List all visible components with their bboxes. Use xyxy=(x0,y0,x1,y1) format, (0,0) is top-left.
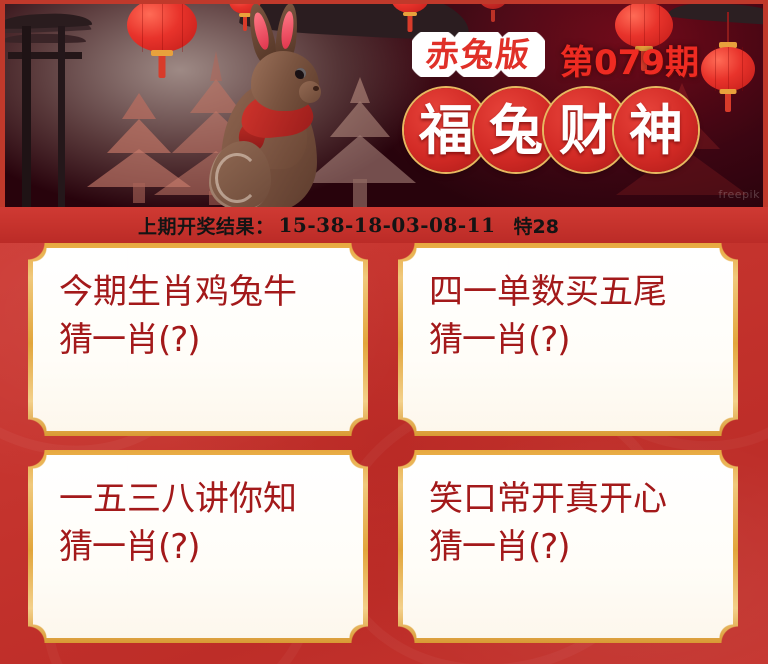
result-label: 上期开奖结果： xyxy=(138,212,275,239)
riddle-card[interactable]: 四一单数买五尾 猜一肖(?) xyxy=(398,243,738,436)
result-numbers: 15-38-18-03-08-11 xyxy=(279,213,496,237)
title-char: 兔 xyxy=(489,103,543,157)
riddle-line-1: 今期生肖鸡兔牛 xyxy=(59,268,363,316)
hero-banner: 赤兔版 第079期 福 兔 财 神 freepik xyxy=(0,0,768,207)
riddle-line-1: 一五三八讲你知 xyxy=(59,475,363,523)
rabbit-eye xyxy=(295,68,306,79)
title-char: 神 xyxy=(629,103,683,157)
watermark: freepik xyxy=(718,188,760,201)
riddle-line-2: 猜一肖(?) xyxy=(59,316,363,364)
riddle-card-grid: 今期生肖鸡兔牛 猜一肖(?) 四一单数买五尾 猜一肖(?) 一五三八讲你知 猜一… xyxy=(0,243,768,664)
torii-gate-icon xyxy=(6,8,86,207)
title-char-disc: 神 xyxy=(614,88,698,172)
riddle-line-1: 四一单数买五尾 xyxy=(429,268,733,316)
rabbit-haunch xyxy=(209,141,271,207)
edition-badge: 赤兔版 xyxy=(418,36,539,73)
red-lantern-icon xyxy=(478,0,508,30)
last-draw-result-bar: 上期开奖结果： 15-38-18-03-08-11 特28 xyxy=(0,207,768,243)
riddle-card[interactable]: 今期生肖鸡兔牛 猜一肖(?) xyxy=(28,243,368,436)
banner-right-border xyxy=(763,0,768,207)
edition-badge-label: 赤兔版 xyxy=(424,38,532,71)
rabbit-illustration xyxy=(195,21,345,207)
result-special-number: 特28 xyxy=(514,212,559,239)
riddle-line-1: 笑口常开真开心 xyxy=(429,475,733,523)
banner-top-border xyxy=(0,0,768,4)
banner-title: 福 兔 财 神 xyxy=(404,88,684,172)
rabbit-nose xyxy=(313,86,319,91)
title-char: 福 xyxy=(419,103,473,157)
red-lantern-icon xyxy=(126,0,198,78)
title-char: 财 xyxy=(559,103,613,157)
riddle-line-2: 猜一肖(?) xyxy=(429,523,733,571)
riddle-card[interactable]: 一五三八讲你知 猜一肖(?) xyxy=(28,450,368,643)
riddle-card[interactable]: 笑口常开真开心 猜一肖(?) xyxy=(398,450,738,643)
poster-root: 赤兔版 第079期 福 兔 财 神 freepik 上期开奖结果： 15-38-… xyxy=(0,0,768,664)
red-lantern-icon xyxy=(700,12,756,116)
riddle-cards-area: 今期生肖鸡兔牛 猜一肖(?) 四一单数买五尾 猜一肖(?) 一五三八讲你知 猜一… xyxy=(0,243,768,664)
issue-number: 第079期 xyxy=(560,46,699,80)
rabbit-muzzle xyxy=(299,81,321,103)
riddle-line-2: 猜一肖(?) xyxy=(59,523,363,571)
riddle-line-2: 猜一肖(?) xyxy=(429,316,733,364)
banner-left-border xyxy=(0,0,5,207)
